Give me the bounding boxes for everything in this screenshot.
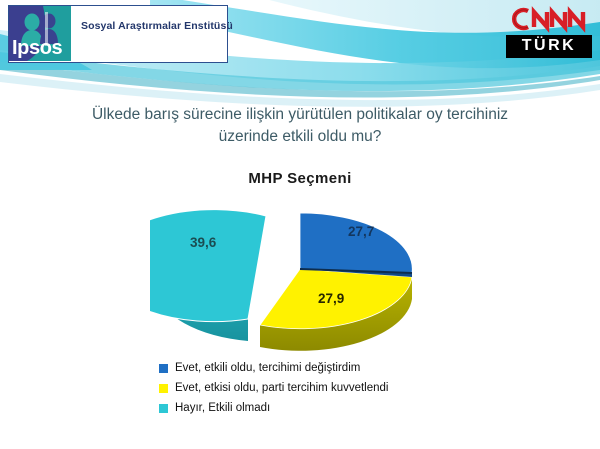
pie-slice-evet-etkili-oldu: [300, 213, 412, 277]
page-title: Ülkede barış sürecine ilişkin yürütülen …: [55, 104, 545, 149]
ipsos-wordmark: Ipsos: [12, 37, 62, 60]
cnn-turk-logo: TÜRK: [506, 4, 592, 58]
pie-slice-evet-etkisi-oldu: [260, 269, 412, 351]
pie-chart: 27,7 27,9 39,6: [150, 188, 450, 360]
cnn-logo-icon: [506, 4, 592, 34]
legend-item[interactable]: Evet, etkili oldu, tercihimi değiştirdim: [159, 358, 388, 378]
legend-item[interactable]: Evet, etkisi oldu, parti tercihim kuvvet…: [159, 378, 388, 398]
slide-canvas: Ipsos Sosyal Araştırmalar Enstitüsü TÜRK…: [0, 0, 600, 449]
institute-name-label: Sosyal Araştırmalar Enstitüsü: [81, 20, 233, 32]
chart-legend: Evet, etkili oldu, tercihimi değiştirdim…: [159, 358, 388, 418]
question-line-2: üzerinde etkili oldu mu?: [55, 126, 545, 148]
turk-label-bar: TÜRK: [506, 35, 592, 58]
legend-swatch-icon: [159, 384, 168, 393]
pie-chart-svg: [150, 188, 450, 360]
question-line-1: Ülkede barış sürecine ilişkin yürütülen …: [55, 104, 545, 126]
legend-label: Hayır, Etkili olmadı: [175, 402, 270, 414]
ipsos-logo-box: Ipsos Sosyal Araştırmalar Enstitüsü: [8, 5, 228, 63]
legend-label: Evet, etkili oldu, tercihimi değiştirdim: [175, 362, 360, 374]
pie-slice-hayir-etkili-olmadi: [150, 210, 266, 341]
legend-item[interactable]: Hayır, Etkili olmadı: [159, 398, 388, 418]
chart-title: MHP Seçmeni: [0, 170, 600, 187]
legend-swatch-icon: [159, 404, 168, 413]
legend-swatch-icon: [159, 364, 168, 373]
turk-wordmark: TÜRK: [522, 37, 576, 54]
legend-label: Evet, etkisi oldu, parti tercihim kuvvet…: [175, 382, 388, 394]
